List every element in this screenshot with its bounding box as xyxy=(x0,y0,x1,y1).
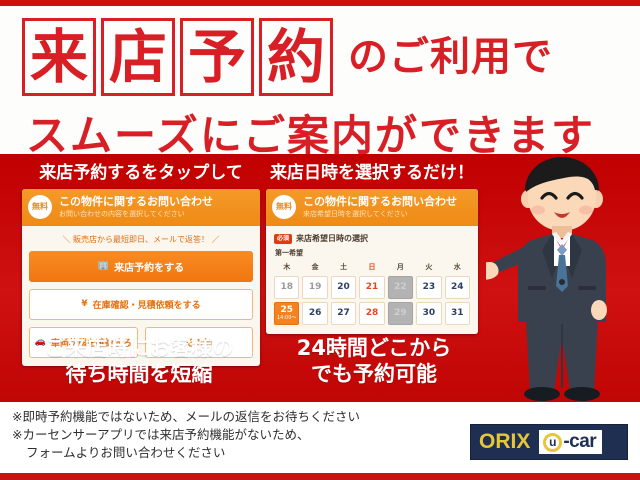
ucar-car-letters: -car xyxy=(563,431,596,453)
calendar-day-cell[interactable]: 21 xyxy=(359,276,384,299)
calendar-day-number: 24 xyxy=(451,283,464,292)
calendar-day-cell[interactable]: 20 xyxy=(331,276,356,299)
calendar-header-title: この物件に関するお問い合わせ xyxy=(303,195,472,208)
yen-icon: ¥ xyxy=(81,300,87,309)
headline-block: 来 店 予 約 のご利用で スムーズにご案内ができます xyxy=(0,6,640,154)
left-panel-heading: 来店予約するをタップして xyxy=(22,158,260,183)
inquiry-lead-text: ＼ 販売店から最短即日、メールで返答！ ／ xyxy=(29,234,253,245)
left-benefit-caption: ご来店時にお客様の 待ち時間を短縮 xyxy=(14,336,264,387)
calendar-day-cell[interactable]: 19 xyxy=(302,276,327,299)
calendar-day-cell[interactable]: 18 xyxy=(274,276,299,299)
right-panel-heading: 来店日時を選択するだけ！ xyxy=(266,158,478,183)
calendar-day-cell[interactable]: 2514:00〜 xyxy=(274,302,299,325)
reserve-visit-button[interactable]: 🏢 来店予約をする xyxy=(29,251,253,282)
headline-kanji-1: 来 xyxy=(22,18,96,96)
right-benefit-caption: 24時間どこから でも予約可能 xyxy=(268,336,480,387)
calendar-day-number: 20 xyxy=(337,283,350,292)
ucar-u-letter: u xyxy=(543,433,562,452)
calendar-weekday: 日 xyxy=(359,261,384,274)
calendar-day-number: 18 xyxy=(280,283,293,292)
calendar-week-row: 2514:00〜262728293031 xyxy=(274,302,470,325)
calendar-day-number: 25 xyxy=(280,306,293,315)
inquiry-header-title: この物件に関するお問い合わせ xyxy=(59,195,254,208)
left-panel: 来店予約するをタップして 無料 この物件に関するお問い合わせ お問い合わせの内容… xyxy=(22,158,260,366)
calendar-weekday: 金 xyxy=(302,261,327,274)
calendar-day-cell[interactable]: 24 xyxy=(445,276,470,299)
calendar-day-number: 29 xyxy=(394,309,407,318)
free-badge: 無料 xyxy=(272,195,296,219)
store-icon: 🏢 xyxy=(98,262,109,271)
required-badge: 必須 xyxy=(274,234,292,244)
calendar-weekday: 火 xyxy=(416,261,441,274)
calendar-weekday: 木 xyxy=(274,261,299,274)
footer-notes: ※即時予約機能ではないため、メールの返信をお待ちください ※カーセンサーアプリで… xyxy=(12,408,462,462)
orix-ucar-logo: ORIX u -car xyxy=(470,424,628,460)
calendar-section-label: 来店希望日時の選択 xyxy=(296,233,368,244)
inquiry-card-header: 無料 この物件に関するお問い合わせ お問い合わせの内容を選択してください xyxy=(22,189,260,226)
calendar-header-subtitle: 来店希望日時を選択してください xyxy=(303,210,472,219)
footer-note-3: フォームよりお問い合わせください xyxy=(12,444,462,462)
left-benefit-line1: ご来店時にお客様の xyxy=(14,336,264,362)
calendar-day-number: 27 xyxy=(337,309,350,318)
calendar-day-cell[interactable]: 23 xyxy=(416,276,441,299)
calendar-day-number: 30 xyxy=(423,309,436,318)
left-benefit-line2: 待ち時間を短縮 xyxy=(14,362,264,388)
calendar-day-cell: 29 xyxy=(388,302,413,325)
right-benefit-line1: 24時間どこから xyxy=(268,336,480,362)
businessman-illustration xyxy=(486,154,638,402)
headline-kanji-3: 予 xyxy=(180,18,254,96)
calendar-day-number: 19 xyxy=(309,283,322,292)
inquiry-header-subtitle: お問い合わせの内容を選択してください xyxy=(59,210,254,219)
headline-kanji-4: 約 xyxy=(259,18,333,96)
calendar-day-cell[interactable]: 26 xyxy=(302,302,327,325)
calendar-day-number: 22 xyxy=(394,283,407,292)
calendar-weekday: 水 xyxy=(445,261,470,274)
calendar-choice-label: 第一希望 xyxy=(275,248,470,258)
calendar-day-cell[interactable]: 30 xyxy=(416,302,441,325)
right-benefit-line2: でも予約可能 xyxy=(268,362,480,388)
orix-wordmark: ORIX xyxy=(471,430,536,454)
calendar-weekday: 土 xyxy=(331,261,356,274)
calendar-day-number: 23 xyxy=(423,283,436,292)
headline-tail-text: のご利用で xyxy=(348,18,553,96)
ucar-wordmark: u -car xyxy=(538,429,603,455)
stock-quote-button[interactable]: ¥ 在庫確認・見積依頼をする xyxy=(29,289,253,320)
headline-boxed-kanji: 来 店 予 約 のご利用で xyxy=(22,18,553,96)
calendar-day-cell[interactable]: 28 xyxy=(359,302,384,325)
calendar-day-cell[interactable]: 31 xyxy=(445,302,470,325)
advertisement-poster: 来 店 予 約 のご利用で スムーズにご案内ができます 来店予約するをタップして… xyxy=(0,0,640,480)
reserve-visit-label: 来店予約をする xyxy=(114,259,184,274)
calendar-card-header: 無料 この物件に関するお問い合わせ 来店希望日時を選択してください xyxy=(266,189,478,226)
red-body-section: 来店予約するをタップして 無料 この物件に関するお問い合わせ お問い合わせの内容… xyxy=(0,154,640,402)
calendar-day-number: 26 xyxy=(309,309,322,318)
calendar-app-card: 無料 この物件に関するお問い合わせ 来店希望日時を選択してください 必須 来店希… xyxy=(266,189,478,334)
calendar-week-row: 18192021222324 xyxy=(274,276,470,299)
stock-quote-label: 在庫確認・見積依頼をする xyxy=(93,298,201,311)
footer-note-1: ※即時予約機能ではないため、メールの返信をお待ちください xyxy=(12,408,462,426)
calendar-day-number: 28 xyxy=(366,309,379,318)
headline-kanji-2: 店 xyxy=(101,18,175,96)
free-badge: 無料 xyxy=(28,195,52,219)
bottom-accent-bar xyxy=(0,473,640,480)
calendar-day-cell[interactable]: 27 xyxy=(331,302,356,325)
calendar-weekday: 月 xyxy=(388,261,413,274)
calendar-day-number: 31 xyxy=(451,309,464,318)
calendar-weekday-header: 木金土日月火水 xyxy=(274,261,470,274)
calendar-day-time: 14:00〜 xyxy=(277,316,296,321)
calendar-section-row: 必須 来店希望日時の選択 xyxy=(274,233,470,244)
calendar-day-number: 21 xyxy=(366,283,379,292)
right-panel: 来店日時を選択するだけ！ 無料 この物件に関するお問い合わせ 来店希望日時を選択… xyxy=(266,158,478,334)
calendar-day-cell: 22 xyxy=(388,276,413,299)
footer-note-2: ※カーセンサーアプリでは来店予約機能がないため、 xyxy=(12,426,462,444)
